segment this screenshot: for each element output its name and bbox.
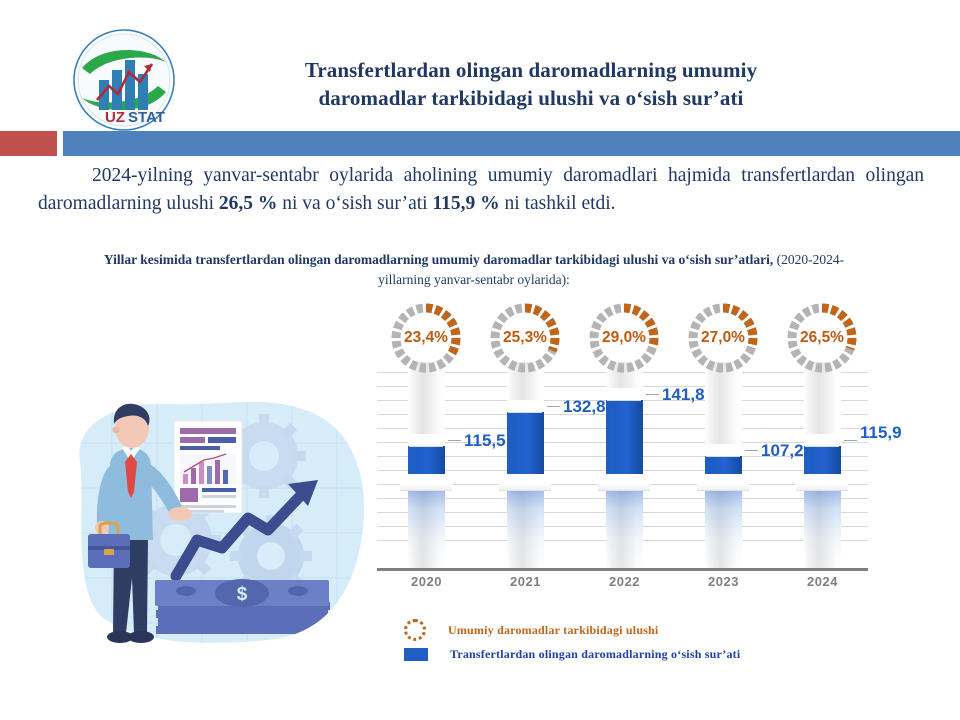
donut-label-2023: 27,0% xyxy=(681,296,765,380)
legend-item-growth[interactable]: Transfertlardan olingan daromadlarning o… xyxy=(404,642,824,666)
bar-stem-fade xyxy=(804,478,841,568)
donut-label-2020: 23,4% xyxy=(384,296,468,380)
value-leader-line xyxy=(646,394,659,395)
chart-subtitle: Yillar kesimida transfertlardan olingan … xyxy=(92,250,856,291)
chart-column-2022: 29,0% 141,8 2022 xyxy=(575,298,674,588)
svg-text:STAT: STAT xyxy=(128,109,165,126)
bar-stem-fade xyxy=(408,478,445,568)
chart-subtitle-bold: Yillar kesimida transfertlardan olingan … xyxy=(104,252,773,267)
chart-legend: Umumiy daromadlar tarkibidagi ulushi Tra… xyxy=(404,618,824,666)
bar-cap xyxy=(706,444,740,457)
page-title: Transfertlardan olingan daromadlarning u… xyxy=(196,56,866,113)
body-text-part-2: ni va o‘sish sur’ati xyxy=(277,193,432,214)
body-highlight-share: 26,5 % xyxy=(219,193,278,214)
value-leader-line xyxy=(745,450,758,451)
body-text-part-3: ni tashkil etdi. xyxy=(500,193,616,214)
chart-column-2023: 27,0% 107,2 2023 xyxy=(674,298,773,588)
chart-column-2020: 23,4% 115,5 2020 xyxy=(377,298,476,588)
body-highlight-growth: 115,9 % xyxy=(432,193,499,214)
combo-chart: 23,4% 115,5 2020 25,3% 132, xyxy=(377,298,872,588)
bar-collar xyxy=(697,474,749,491)
bar-collar xyxy=(796,474,848,491)
bar-collar xyxy=(499,474,551,491)
donut-label-2022: 29,0% xyxy=(582,296,666,380)
bar-collar xyxy=(598,474,650,491)
donut-label-2024: 26,5% xyxy=(780,296,864,380)
legend-label-growth: Transfertlardan olingan daromadlarning o… xyxy=(450,647,740,662)
bar-cap xyxy=(409,434,443,447)
chart-column-2021: 25,3% 132,8 2021 xyxy=(476,298,575,588)
chart-axis-line xyxy=(377,568,868,571)
bar-stem-fade xyxy=(705,478,742,568)
uzstat-logo: UZ STAT xyxy=(72,28,176,132)
value-leader-line xyxy=(547,406,560,407)
businessman-with-report-illustration: $ xyxy=(52,388,382,658)
blue-rect-icon xyxy=(404,648,428,661)
bar-stem-fade xyxy=(507,478,544,568)
value-leader-line xyxy=(844,440,857,441)
chart-column-2024: 26,5% 115,9 2024 xyxy=(773,298,872,588)
bar-stem-fade xyxy=(606,478,643,568)
x-axis-label-2022: 2022 xyxy=(575,574,674,589)
divider-accent-red xyxy=(0,131,57,156)
value-leader-line xyxy=(448,440,461,441)
page-title-line-1: Transfertlardan olingan daromadlarning u… xyxy=(196,56,866,84)
divider-band-blue xyxy=(63,131,960,156)
x-axis-label-2024: 2024 xyxy=(773,574,872,589)
x-axis-label-2020: 2020 xyxy=(377,574,476,589)
body-paragraph: 2024-yilning yanvar-sentabr oylarida aho… xyxy=(38,162,924,219)
bar-cap xyxy=(508,400,542,413)
donut-label-2021: 25,3% xyxy=(483,296,567,380)
legend-label-share: Umumiy daromadlar tarkibidagi ulushi xyxy=(448,623,658,638)
svg-text:$: $ xyxy=(237,584,248,605)
bar-value-2024: 115,9 xyxy=(860,423,902,443)
page-title-line-2: daromadlar tarkibidagi ulushi va o‘sish … xyxy=(196,84,866,112)
bar-cap xyxy=(805,434,839,447)
x-axis-label-2021: 2021 xyxy=(476,574,575,589)
legend-item-share[interactable]: Umumiy daromadlar tarkibidagi ulushi xyxy=(404,618,824,642)
bar-cap xyxy=(607,388,641,401)
dotted-circle-icon xyxy=(404,619,426,641)
svg-text:UZ: UZ xyxy=(105,109,125,126)
bar-collar xyxy=(400,474,452,491)
x-axis-label-2023: 2023 xyxy=(674,574,773,589)
